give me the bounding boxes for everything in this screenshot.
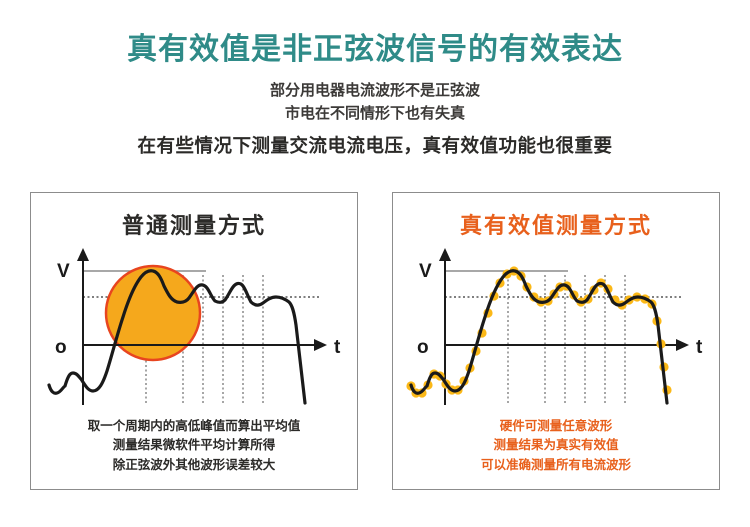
page-title: 真有效值是非正弦波信号的有效表达 [0,0,750,68]
y-axis-label: V [419,261,432,282]
vertical-gridlines [508,275,625,403]
panel-ordinary-measurement: 普通测量方式 [30,192,358,490]
x-axis-arrow [676,339,689,351]
y-axis-label: V [57,261,70,282]
caption-line-2: 测量结果为真实有效值 [393,436,719,455]
panel-title-true-rms: 真有效值测量方式 [393,193,719,240]
x-axis-label: t [334,337,341,358]
emphasis-line: 在有些情况下测量交流电流电压，真有效值功能也很重要 [0,125,750,158]
origin-label: o [417,337,429,358]
caption-line-3: 除正弦波外其他波形误差较大 [31,456,357,475]
waveform-svg-ordinary: V o t [31,245,357,405]
chart-ordinary: V o t [31,245,357,405]
caption-ordinary: 取一个周期内的高低峰值而算出平均值 测量结果微软件平均计算所得 除正弦波外其他波… [31,417,357,475]
panel-title-ordinary: 普通测量方式 [31,193,357,240]
caption-line-3: 可以准确测量所有电流波形 [393,456,719,475]
y-axis-arrow [77,248,89,261]
panel-true-rms-measurement: 真有效值测量方式 [392,192,720,490]
sample-dots-group [406,266,671,397]
waveform-svg-true-rms: V o t [393,245,719,405]
caption-true-rms: 硬件可测量任意波形 测量结果为真实有效值 可以准确测量所有电流波形 [393,417,719,475]
x-axis-label: t [696,337,703,358]
y-axis-arrow [439,248,451,261]
caption-line-1: 取一个周期内的高低峰值而算出平均值 [31,417,357,436]
x-axis-arrow [314,339,327,351]
caption-line-1: 硬件可测量任意波形 [393,417,719,436]
caption-line-2: 测量结果微软件平均计算所得 [31,436,357,455]
header: 真有效值是非正弦波信号的有效表达 部分用电器电流波形不是正弦波 市电在不同情形下… [0,0,750,158]
subtitle-line-2: 市电在不同情形下也有失真 [0,103,750,126]
chart-true-rms: V o t [393,245,719,405]
subtitle-line-1: 部分用电器电流波形不是正弦波 [0,68,750,103]
origin-label: o [55,337,67,358]
